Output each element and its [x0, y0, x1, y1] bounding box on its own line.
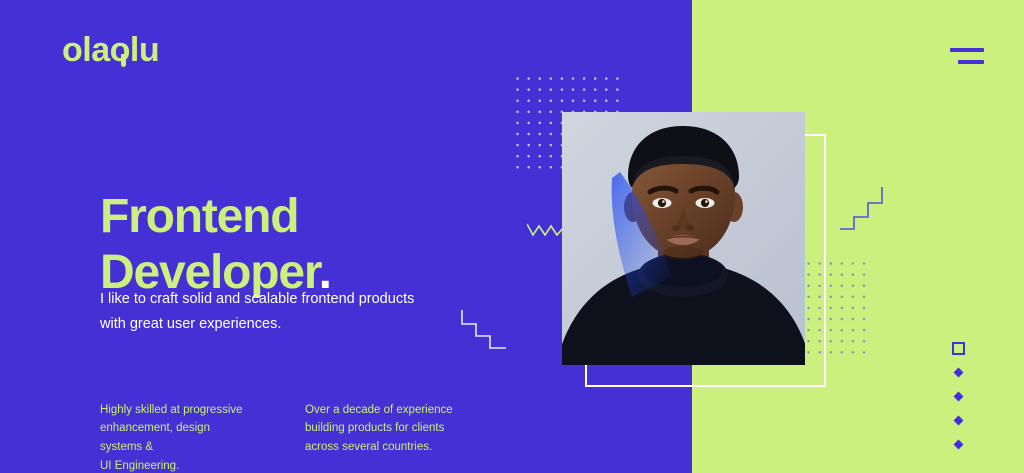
fact-experience: Over a decade of experience building pro… [305, 401, 455, 473]
decorative-marker-column [946, 342, 970, 465]
logo-text-c: lu [130, 33, 159, 67]
hero-subheading: I like to craft solid and scalable front… [100, 287, 450, 338]
descending-staircase-icon [460, 310, 508, 356]
hamburger-menu-icon[interactable] [950, 44, 994, 70]
hero-page: ola o lu FrontendDeveloper. I like to cr… [0, 0, 1024, 473]
headline-line-1: Frontend [100, 190, 298, 243]
ascending-staircase-icon [840, 185, 888, 231]
diamond-marker-icon-1 [953, 368, 963, 378]
page-title: FrontendDeveloper. [100, 189, 331, 301]
fact-columns: Highly skilled at progressive enhancemen… [100, 389, 455, 473]
dot-grid-pattern-right [803, 258, 873, 362]
logo-text-a: ola [62, 33, 110, 67]
logo-o-with-tail: o [110, 33, 130, 67]
diamond-marker-icon-2 [953, 392, 963, 402]
zigzag-line-icon [527, 222, 563, 240]
logo-text-b: o [110, 33, 130, 67]
square-outline-marker-icon [952, 342, 965, 355]
site-logo[interactable]: ola o lu [62, 33, 159, 67]
portrait-photo [562, 112, 805, 365]
fact-skills: Highly skilled at progressive enhancemen… [100, 401, 250, 473]
logo-descender [121, 54, 126, 67]
diamond-marker-icon-3 [953, 416, 963, 426]
hamburger-bar-bottom [958, 60, 984, 64]
diamond-marker-icon-4 [953, 440, 963, 450]
hamburger-bar-top [950, 48, 984, 52]
